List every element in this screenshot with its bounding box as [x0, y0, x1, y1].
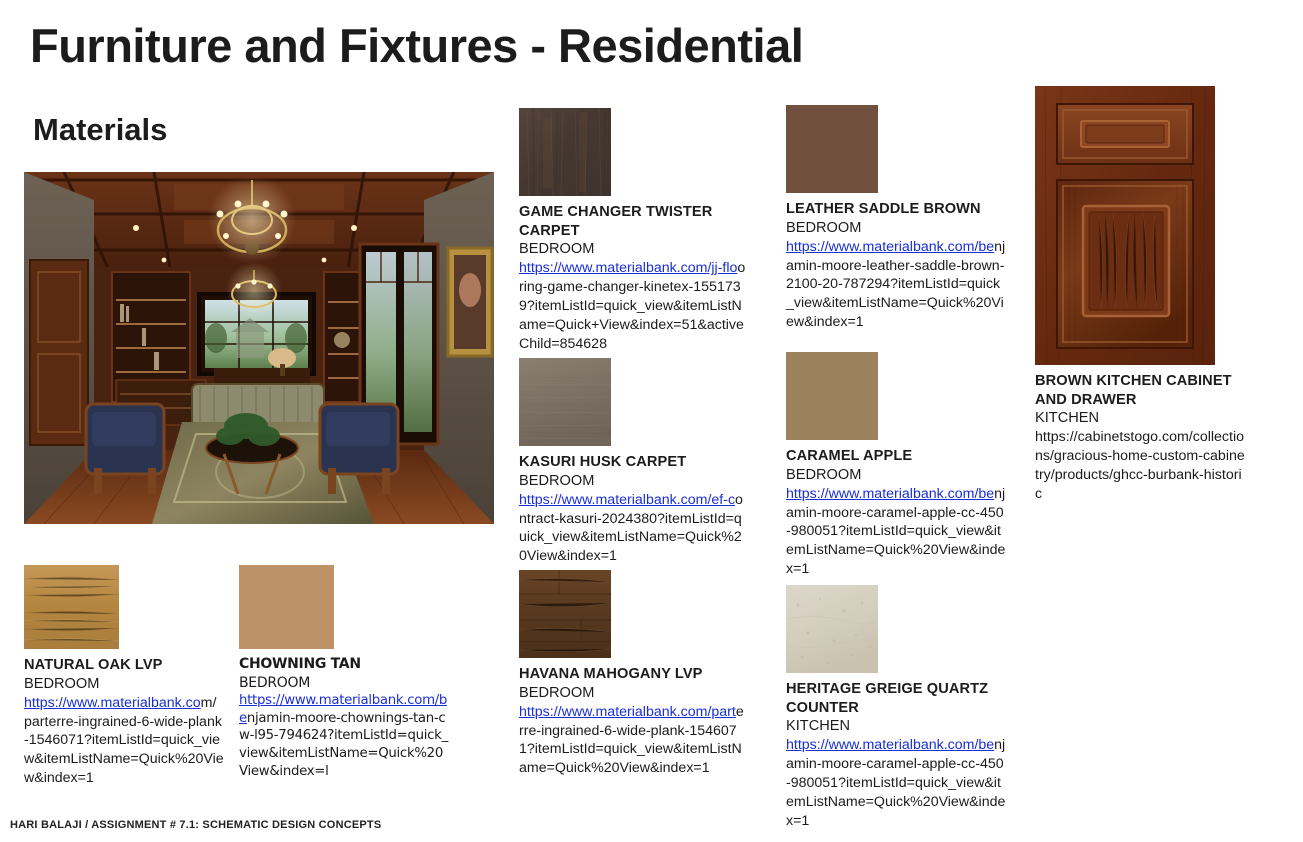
material-text-natural-oak: NATURAL OAK LVP BEDROOM https://www.mate…	[24, 656, 224, 788]
interior-room-photo	[24, 172, 494, 524]
material-url[interactable]: https://www.materialbank.com/parterre-in…	[519, 703, 747, 779]
material-card-leather-saddle-brown: LEATHER SADDLE BROWN BEDROOM https://www…	[786, 105, 1008, 332]
page-title: Furniture and Fixtures - Residential	[30, 18, 803, 73]
material-text-brown-kitchen-cabinet: BROWN KITCHEN CABINET AND DRAWER KITCHEN…	[1035, 372, 1247, 504]
material-url[interactable]: https://www.materialbank.com/jj-flooring…	[519, 259, 747, 353]
material-name: CHOWNING TAN	[239, 656, 449, 674]
material-card-heritage-greige-quartz-counter: HERITAGE GREIGE QUARTZ COUNTER KITCHEN h…	[786, 585, 1008, 831]
swatch-game-changer-twister-carpet	[519, 108, 611, 196]
material-name: CARAMEL APPLE	[786, 447, 1008, 466]
material-name: LEATHER SADDLE BROWN	[786, 200, 1008, 219]
material-name: BROWN KITCHEN CABINET AND DRAWER	[1035, 372, 1247, 409]
material-name: GAME CHANGER TWISTER CARPET	[519, 203, 747, 240]
material-text-chowning-tan: CHOWNING TAN BEDROOM https://www.materia…	[239, 656, 449, 780]
material-url[interactable]: https://www.materialbank.com/ef-contract…	[519, 491, 747, 567]
material-text-game-changer: GAME CHANGER TWISTER CARPET BEDROOM http…	[519, 203, 747, 354]
material-card-caramel-apple: CARAMEL APPLE BEDROOM https://www.materi…	[786, 352, 1008, 579]
material-url[interactable]: https://www.materialbank.com/benjamin-mo…	[786, 736, 1008, 830]
material-text-leather-saddle-brown: LEATHER SADDLE BROWN BEDROOM https://www…	[786, 200, 1008, 332]
material-card-natural-oak: NATURAL OAK LVP BEDROOM https://www.mate…	[24, 565, 224, 788]
section-title: Materials	[33, 112, 167, 148]
material-url[interactable]: https://www.materialbank.com/benjamin-mo…	[786, 485, 1008, 579]
swatch-brown-kitchen-cabinet-door	[1035, 86, 1215, 365]
swatch-chowning-tan	[239, 565, 334, 649]
material-room: BEDROOM	[239, 674, 449, 692]
interior-room-illustration	[24, 172, 494, 524]
material-card-brown-kitchen-cabinet: BROWN KITCHEN CABINET AND DRAWER KITCHEN…	[1035, 86, 1247, 504]
swatch-natural-oak	[24, 565, 119, 649]
swatch-kasuri-husk-carpet	[519, 358, 611, 446]
material-name: KASURI HUSK CARPET	[519, 453, 747, 472]
material-room: BEDROOM	[786, 219, 1008, 238]
material-url-link[interactable]: https://www.materialbank.co	[24, 695, 201, 711]
material-text-heritage-greige: HERITAGE GREIGE QUARTZ COUNTER KITCHEN h…	[786, 680, 1008, 831]
material-url-link[interactable]: https://www.materialbank.com/part	[519, 704, 736, 720]
material-url[interactable]: https://www.materialbank.com/benjamin-mo…	[786, 238, 1008, 332]
material-text-havana: HAVANA MAHOGANY LVP BEDROOM https://www.…	[519, 665, 747, 778]
material-card-chowning-tan: CHOWNING TAN BEDROOM https://www.materia…	[239, 565, 449, 780]
material-room: KITCHEN	[786, 717, 1008, 736]
swatch-caramel-apple	[786, 352, 878, 440]
material-room: BEDROOM	[519, 684, 747, 703]
material-card-kasuri-husk-carpet: KASURI HUSK CARPET BEDROOM https://www.m…	[519, 358, 747, 566]
material-text-caramel-apple: CARAMEL APPLE BEDROOM https://www.materi…	[786, 447, 1008, 579]
material-text-kasuri: KASURI HUSK CARPET BEDROOM https://www.m…	[519, 453, 747, 566]
slide-canvas: Furniture and Fixtures - Residential Mat…	[0, 0, 1303, 842]
material-room: BEDROOM	[519, 240, 747, 259]
slide-footer: HARI BALAJI / ASSIGNMENT # 7.1: SCHEMATI…	[10, 819, 381, 831]
material-name: NATURAL OAK LVP	[24, 656, 224, 675]
material-url[interactable]: https://www.materialbank.com/parterre-in…	[24, 694, 224, 788]
material-name: HERITAGE GREIGE QUARTZ COUNTER	[786, 680, 1008, 717]
material-url-link[interactable]: https://www.materialbank.com/ef-c	[519, 492, 735, 508]
material-url: https://cabinetstogo.com/collections/gra…	[1035, 428, 1247, 504]
material-room: BEDROOM	[24, 675, 224, 694]
material-card-game-changer-twister-carpet: GAME CHANGER TWISTER CARPET BEDROOM http…	[519, 108, 747, 354]
material-url-link[interactable]: https://www.materialbank.com/be	[786, 486, 994, 502]
material-url-rest: njamin-moore-chownings-tan-cw-l95-794624…	[239, 711, 448, 779]
material-url-link[interactable]: https://www.materialbank.com/jj-flo	[519, 260, 737, 276]
material-url-link[interactable]: https://www.materialbank.com/be	[786, 737, 994, 753]
material-room: BEDROOM	[786, 466, 1008, 485]
material-card-havana-mahogany-lvp: HAVANA MAHOGANY LVP BEDROOM https://www.…	[519, 570, 747, 778]
material-url[interactable]: https://www.materialbank.com/benjamin-mo…	[239, 692, 449, 780]
swatch-heritage-greige-quartz	[786, 585, 878, 673]
swatch-havana-mahogany-lvp	[519, 570, 611, 658]
swatch-leather-saddle-brown	[786, 105, 878, 193]
material-url-link[interactable]: https://www.materialbank.com/be	[786, 239, 994, 255]
material-room: KITCHEN	[1035, 409, 1247, 428]
material-room: BEDROOM	[519, 472, 747, 491]
material-name: HAVANA MAHOGANY LVP	[519, 665, 747, 684]
